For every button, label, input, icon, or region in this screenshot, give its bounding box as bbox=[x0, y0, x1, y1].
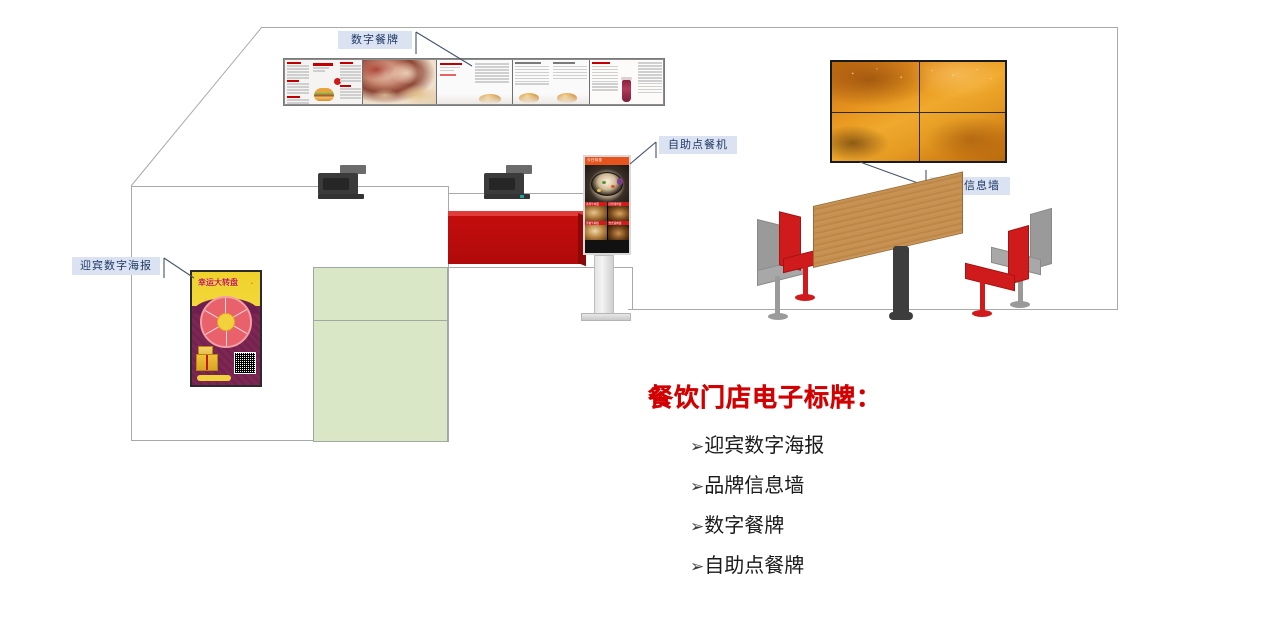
dining-table-foot bbox=[889, 312, 913, 320]
kiosk-header-banner: 今日特惠 bbox=[585, 157, 629, 165]
service-counter bbox=[448, 216, 584, 264]
chair-foot bbox=[972, 310, 992, 317]
kiosk-hero-image bbox=[585, 165, 629, 202]
chair-pole bbox=[775, 276, 780, 316]
bullet-marker-icon: ➢ bbox=[690, 557, 704, 577]
gift-box-large bbox=[196, 354, 218, 371]
list-item: ➢品牌信息墙 bbox=[690, 469, 804, 498]
qr-code bbox=[234, 352, 256, 374]
kiosk-item-image bbox=[585, 225, 607, 240]
chair-pole bbox=[980, 281, 985, 312]
brand-video-wall[interactable] bbox=[830, 60, 1007, 163]
veg-garnish bbox=[617, 178, 623, 185]
list-item-label: 品牌信息墙 bbox=[704, 473, 804, 497]
pos-screen bbox=[323, 178, 349, 190]
kiosk-item-row-2: 黑椒牛柳饭 台式卤肉饭 bbox=[585, 221, 629, 240]
scene-canvas: 数字餐牌 品牌信息墙 今日特惠 bbox=[0, 0, 1268, 623]
chair-foot bbox=[1010, 301, 1030, 308]
floor-zone bbox=[313, 267, 448, 442]
list-item-label: 自助点餐牌 bbox=[704, 553, 804, 577]
pos-screen bbox=[489, 178, 515, 190]
video-wall-bezel-horizontal bbox=[832, 112, 1005, 113]
veg-garnish bbox=[597, 189, 601, 192]
bullet-marker-icon: ➢ bbox=[690, 477, 704, 497]
kiosk-item-image bbox=[608, 225, 630, 240]
bullet-marker-icon: ➢ bbox=[690, 517, 704, 537]
kiosk-stand-column bbox=[594, 255, 614, 317]
wall-top-edge bbox=[262, 27, 1118, 28]
kiosk-item-tile[interactable]: 黑椒牛柳饭 bbox=[585, 221, 608, 240]
counter-room-top bbox=[131, 186, 449, 187]
wall-left-edge bbox=[131, 186, 132, 440]
menu-panel-4 bbox=[513, 60, 590, 104]
counter-side-line bbox=[632, 267, 633, 310]
list-item: ➢迎宾数字海报 bbox=[690, 429, 824, 458]
kiosk-item-tile[interactable]: 香辣牛肉面 bbox=[585, 202, 608, 221]
kiosk-item-tile[interactable]: 红烧排骨饭 bbox=[608, 202, 630, 221]
callout-poster: 迎宾数字海报 bbox=[72, 257, 160, 275]
menu-panel-1 bbox=[285, 60, 363, 104]
welcome-digital-poster[interactable]: 幸运大转盘 bbox=[190, 270, 262, 387]
veg-garnish bbox=[602, 181, 606, 184]
chair-foot bbox=[795, 294, 815, 301]
kiosk-base-plate bbox=[581, 313, 631, 321]
pos-base bbox=[318, 194, 364, 199]
list-item-label: 迎宾数字海报 bbox=[704, 433, 824, 457]
bullet-marker-icon: ➢ bbox=[690, 437, 704, 457]
kiosk-item-tile[interactable]: 台式卤肉饭 bbox=[608, 221, 630, 240]
pos-indicator-light bbox=[520, 195, 524, 198]
menu-panel-5 bbox=[590, 60, 663, 104]
kiosk-item-row-1: 香辣牛肉面 红烧排骨饭 bbox=[585, 202, 629, 221]
poster-cta-button[interactable] bbox=[197, 375, 231, 381]
kiosk-header-text: 今日特惠 bbox=[587, 158, 602, 163]
poster-headline: 幸运大转盘 bbox=[198, 277, 238, 288]
lucky-wheel-graphic bbox=[200, 296, 252, 348]
floor-zone-divider bbox=[314, 320, 447, 321]
veg-garnish bbox=[611, 185, 615, 188]
list-item-label: 数字餐牌 bbox=[704, 513, 784, 537]
floor-back-line-right bbox=[628, 309, 1118, 310]
leader-menu-board bbox=[410, 30, 482, 70]
kiosk-item-image bbox=[585, 206, 607, 221]
page-title: 餐饮门店电子标牌： bbox=[648, 378, 882, 414]
leader-poster bbox=[160, 256, 200, 290]
dining-table-leg bbox=[893, 246, 909, 318]
chair-pole bbox=[803, 264, 808, 296]
self-order-kiosk-screen[interactable]: 今日特惠 香辣牛肉面 红烧排骨饭 黑椒牛柳饭 台式卤肉 bbox=[583, 155, 631, 255]
wheel-hub bbox=[217, 313, 235, 331]
kiosk-item-image bbox=[608, 206, 630, 221]
wall-right-edge bbox=[1117, 27, 1118, 310]
list-item: ➢数字餐牌 bbox=[690, 509, 784, 538]
chair-foot bbox=[768, 313, 788, 320]
leader-kiosk bbox=[628, 138, 668, 170]
callout-menu-board: 数字餐牌 bbox=[338, 31, 412, 49]
list-item: ➢自助点餐牌 bbox=[690, 549, 804, 578]
callout-kiosk: 自助点餐机 bbox=[659, 136, 737, 154]
